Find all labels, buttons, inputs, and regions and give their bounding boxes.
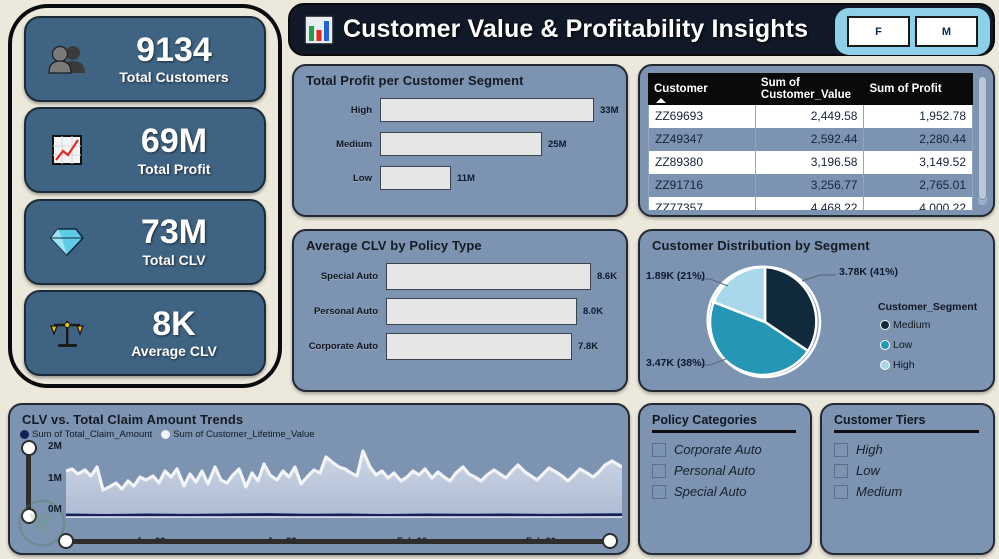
bar-row[interactable]: Corporate Auto 7.8K — [302, 333, 618, 360]
slicer-divider — [834, 430, 979, 433]
customer-table: Customer Sum of Customer_Value Sum of Pr… — [648, 73, 973, 210]
people-icon — [40, 44, 94, 74]
bar-value-label: 8.0K — [583, 306, 603, 317]
slicer-option-label: High — [856, 442, 883, 457]
chart-title: Total Profit per Customer Segment — [294, 66, 626, 88]
claim-amount-line — [66, 515, 622, 516]
avg-clv-chart-panel: Average CLV by Policy Type Special Auto … — [292, 229, 628, 392]
column-header-customer-value[interactable]: Sum of Customer_Value — [755, 74, 864, 105]
column-header-label: Customer — [654, 83, 708, 95]
gender-option-m[interactable]: M — [915, 16, 978, 47]
kpi-label: Average CLV — [131, 343, 217, 359]
cell-customer: ZZ49347 — [649, 128, 756, 151]
table-header-row: Customer Sum of Customer_Value Sum of Pr… — [649, 74, 973, 105]
trend-legend: Sum of Total_Claim_Amount Sum of Custome… — [10, 427, 628, 440]
bar-row[interactable]: Personal Auto 8.0K — [302, 298, 618, 325]
pie-label-low: 3.47K (38%) — [646, 357, 705, 369]
checkbox-icon[interactable] — [652, 464, 666, 478]
y-tick-label: 0M — [48, 504, 62, 515]
checkbox-icon[interactable] — [652, 485, 666, 499]
customer-tiers-slicer: Customer Tiers High Low Medium — [820, 403, 995, 555]
x-slider-knob-left[interactable] — [58, 533, 74, 549]
bar-chart-profit: High 33M Medium 25M Low 11M — [294, 88, 626, 190]
legend-swatch-claim-amount — [20, 430, 29, 439]
legend-item-clv[interactable]: Sum of Customer_Lifetime_Value — [161, 429, 314, 440]
column-header-customer[interactable]: Customer — [649, 74, 756, 105]
legend-swatch-high — [880, 360, 890, 370]
cell-customer-value: 4,468.22 — [755, 197, 864, 211]
kpi-value: 9134 — [136, 33, 212, 68]
bar-row[interactable]: Special Auto 8.6K — [302, 263, 618, 290]
y-slider-knob-bottom[interactable] — [21, 508, 37, 524]
customer-table-panel: Customer Sum of Customer_Value Sum of Pr… — [638, 64, 995, 217]
diamond-icon — [40, 227, 94, 257]
slicer-option-label: Medium — [856, 484, 902, 499]
kpi-card-average-clv[interactable]: 8K Average CLV — [24, 290, 266, 376]
slicer-title: Policy Categories — [640, 405, 810, 430]
cell-customer: ZZ69693 — [649, 105, 756, 128]
legend-label: Sum of Total_Claim_Amount — [32, 429, 152, 440]
policy-categories-slicer: Policy Categories Corporate Auto Persona… — [638, 403, 812, 555]
bar-category-label: Low — [302, 173, 380, 184]
bar-row[interactable]: Medium 25M — [302, 132, 618, 156]
kpi-value: 69M — [141, 124, 207, 159]
y-axis-range-slider[interactable] — [26, 448, 31, 516]
cell-profit: 2,765.01 — [864, 174, 973, 197]
dashboard-header: Customer Value & Profitability Insights … — [288, 3, 995, 56]
pie-label-medium: 3.78K (41%) — [839, 266, 898, 278]
bar-category-label: Medium — [302, 139, 380, 150]
bar-fill[interactable] — [380, 132, 542, 156]
legend-item-medium[interactable]: Medium — [880, 319, 930, 331]
legend-label: Low — [893, 339, 912, 351]
bar-value-label: 11M — [457, 173, 475, 184]
cell-profit: 4,000.22 — [864, 197, 973, 211]
table-scrollbar-thumb[interactable] — [978, 76, 987, 200]
table-scrollbar[interactable] — [978, 76, 987, 205]
slicer-option-high[interactable]: High — [822, 439, 993, 460]
kpi-panel: 9134 Total Customers 69M Total Profit — [8, 4, 282, 388]
kpi-value: 8K — [152, 307, 195, 342]
kpi-value: 73M — [141, 215, 207, 250]
checkbox-icon[interactable] — [652, 443, 666, 457]
cell-customer-value: 2,449.58 — [755, 105, 864, 128]
slicer-option-low[interactable]: Low — [822, 460, 993, 481]
pie-label-high: 1.89K (21%) — [646, 270, 705, 282]
slicer-option-special-auto[interactable]: Special Auto — [640, 481, 810, 502]
x-slider-knob-right[interactable] — [602, 533, 618, 549]
bar-row[interactable]: High 33M — [302, 98, 618, 122]
legend-swatch-low — [880, 340, 890, 350]
slicer-option-corporate-auto[interactable]: Corporate Auto — [640, 439, 810, 460]
slicer-title: Customer Tiers — [822, 405, 993, 430]
cell-profit: 2,280.44 — [864, 128, 973, 151]
legend-item-high[interactable]: High — [880, 359, 915, 371]
y-tick-label: 1M — [48, 473, 62, 484]
scales-icon — [40, 317, 94, 349]
table-row[interactable]: ZZ89380 3,196.58 3,149.52 — [649, 151, 973, 174]
slicer-option-label: Low — [856, 463, 880, 478]
slicer-option-label: Personal Auto — [674, 463, 755, 478]
table-row[interactable]: ZZ77357 4,468.22 4,000.22 — [649, 197, 973, 211]
trend-series-svg — [66, 443, 622, 525]
cell-customer: ZZ91716 — [649, 174, 756, 197]
bar-chart-clv: Special Auto 8.6K Personal Auto 8.0K Cor… — [294, 253, 626, 360]
clv-claims-trend-panel: CLV vs. Total Claim Amount Trends Sum of… — [8, 403, 630, 555]
checkbox-icon[interactable] — [834, 485, 848, 499]
legend-item-claim-amount[interactable]: Sum of Total_Claim_Amount — [20, 429, 152, 440]
clv-area — [66, 451, 622, 517]
total-profit-chart-panel: Total Profit per Customer Segment High 3… — [292, 64, 628, 217]
bar-chart-icon — [304, 15, 334, 45]
bar-category-label: High — [302, 105, 380, 116]
kpi-label: Total Profit — [138, 161, 211, 177]
bar-fill[interactable] — [386, 263, 591, 290]
kpi-card-total-clv[interactable]: 73M Total CLV — [24, 199, 266, 285]
slicer-option-personal-auto[interactable]: Personal Auto — [640, 460, 810, 481]
bar-value-label: 33M — [600, 105, 618, 116]
legend-label: Sum of Customer_Lifetime_Value — [173, 429, 314, 440]
legend-label: High — [893, 359, 915, 371]
kpi-card-total-profit[interactable]: 69M Total Profit — [24, 107, 266, 193]
legend-swatch-clv — [161, 430, 170, 439]
cell-customer: ZZ89380 — [649, 151, 756, 174]
table-row[interactable]: ZZ49347 2,592.44 2,280.44 — [649, 128, 973, 151]
cell-profit: 3,149.52 — [864, 151, 973, 174]
dashboard-root: 9134 Total Customers 69M Total Profit — [0, 0, 999, 559]
bar-category-label: Special Auto — [302, 271, 386, 282]
y-tick-label: 2M — [48, 441, 62, 452]
bar-value-label: 25M — [548, 139, 566, 150]
customer-distribution-panel: Customer Distribution by Segment 3.78K (… — [638, 229, 995, 392]
cell-customer-value: 3,196.58 — [755, 151, 864, 174]
customer-table-scroll-area[interactable]: Customer Sum of Customer_Value Sum of Pr… — [648, 73, 973, 210]
bar-fill[interactable] — [386, 298, 577, 325]
pie-chart: 3.78K (41%) 1.89K (21%) 3.47K (38%) Cust… — [640, 253, 993, 387]
x-axis-range-slider[interactable] — [66, 539, 610, 544]
sort-ascending-icon — [656, 98, 666, 103]
legend-swatch-medium — [880, 320, 890, 330]
cell-profit: 1,952.78 — [864, 105, 973, 128]
chart-title: Customer Distribution by Segment — [640, 231, 993, 253]
page-title: Customer Value & Profitability Insights — [343, 15, 808, 44]
table-row[interactable]: ZZ91716 3,256.77 2,765.01 — [649, 174, 973, 197]
table-row[interactable]: ZZ69693 2,449.58 1,952.78 — [649, 105, 973, 128]
chart-title: Average CLV by Policy Type — [294, 231, 626, 253]
trend-plot: 2M 1M 0M Jan 09 Jan 23 Feb 06 Feb 20 — [10, 440, 628, 546]
gender-option-f[interactable]: F — [847, 16, 910, 47]
kpi-label: Total Customers — [119, 69, 228, 85]
kpi-label: Total CLV — [142, 252, 205, 268]
bar-fill[interactable] — [380, 98, 594, 122]
y-slider-knob-top[interactable] — [21, 440, 37, 456]
column-header-profit[interactable]: Sum of Profit — [864, 74, 973, 105]
legend-item-low[interactable]: Low — [880, 339, 912, 351]
bar-category-label: Personal Auto — [302, 306, 386, 317]
bar-fill[interactable] — [380, 166, 451, 190]
bar-value-label: 8.6K — [597, 271, 617, 282]
bar-row[interactable]: Low 11M — [302, 166, 618, 190]
slicer-option-label: Corporate Auto — [674, 442, 762, 457]
checkbox-icon[interactable] — [834, 464, 848, 478]
kpi-card-total-customers[interactable]: 9134 Total Customers — [24, 16, 266, 102]
cell-customer-value: 3,256.77 — [755, 174, 864, 197]
cell-customer-value: 2,592.44 — [755, 128, 864, 151]
checkbox-icon[interactable] — [834, 443, 848, 457]
cell-customer: ZZ77357 — [649, 197, 756, 211]
chart-up-icon — [40, 134, 94, 166]
bar-value-label: 7.8K — [578, 341, 598, 352]
slicer-option-label: Special Auto — [674, 484, 747, 499]
slicer-divider — [652, 430, 796, 433]
bar-category-label: Corporate Auto — [302, 341, 386, 352]
legend-label: Medium — [893, 319, 930, 331]
slicer-option-medium[interactable]: Medium — [822, 481, 993, 502]
chart-title: CLV vs. Total Claim Amount Trends — [10, 405, 628, 427]
pie-legend-title: Customer_Segment — [878, 301, 977, 313]
gender-slicer[interactable]: F M — [835, 8, 990, 55]
bar-fill[interactable] — [386, 333, 572, 360]
